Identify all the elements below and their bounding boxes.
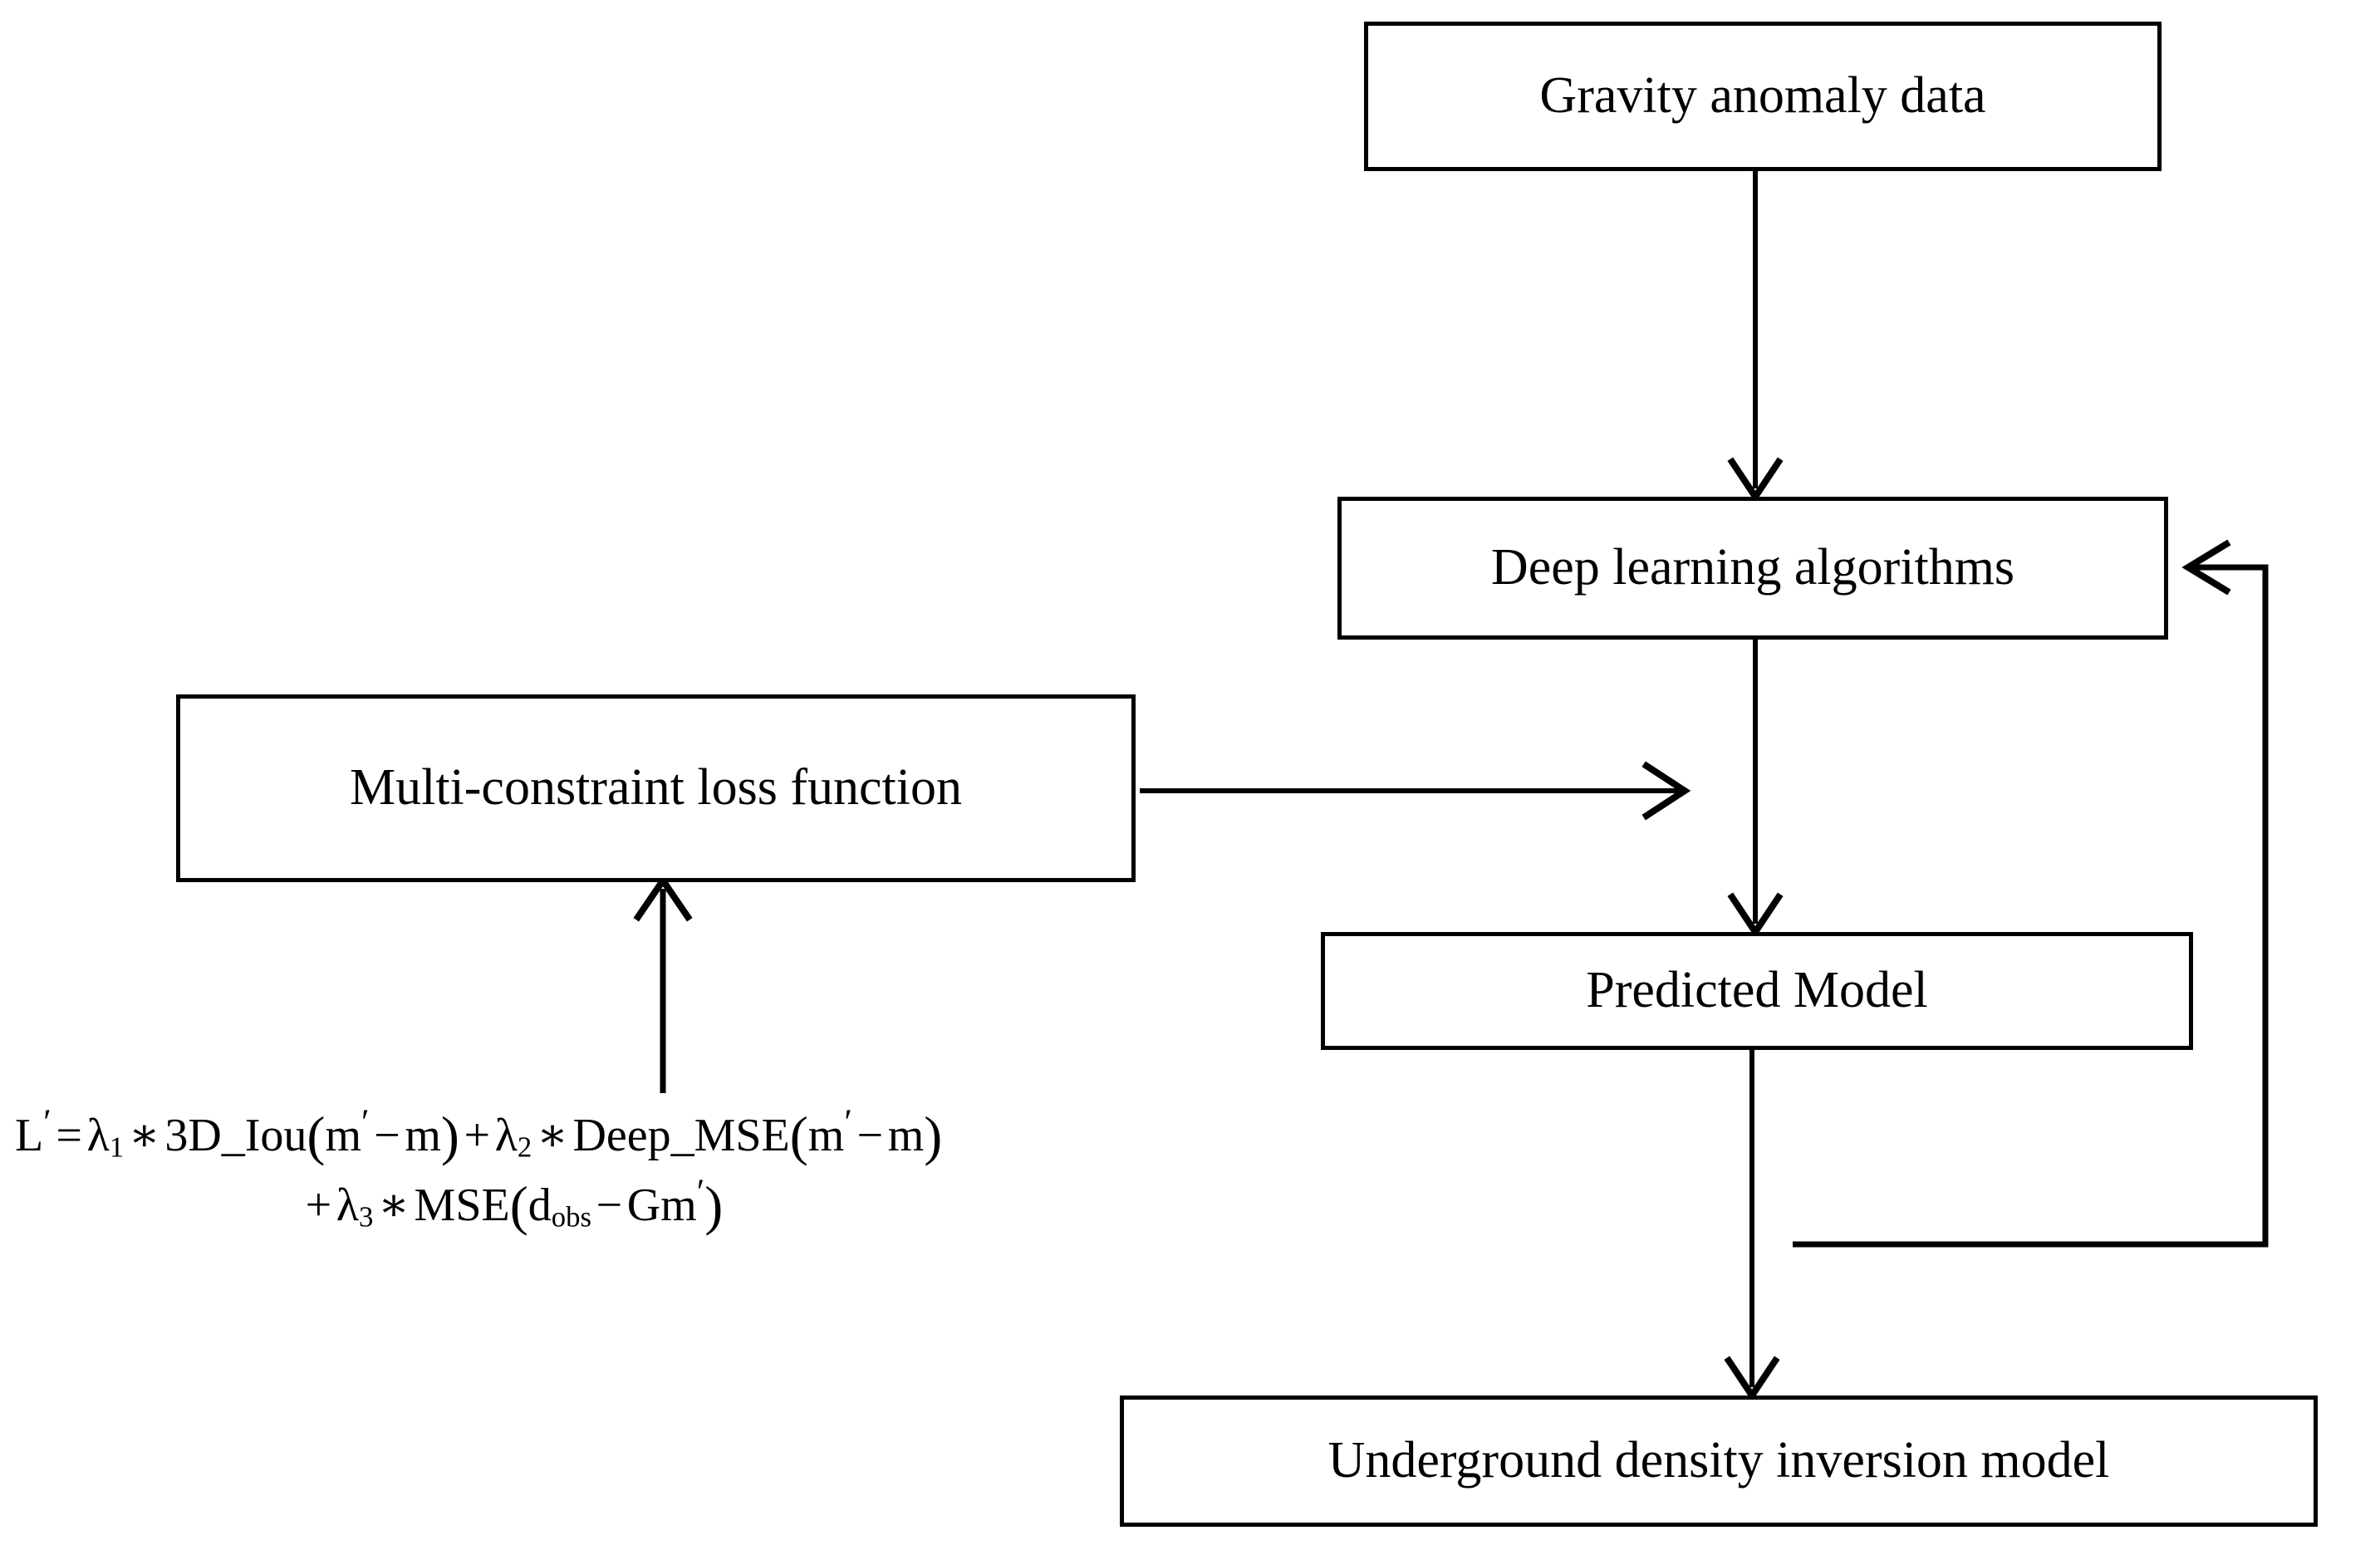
formula-lambda2-sub: 2 xyxy=(518,1131,532,1164)
formula-lambda3: λ xyxy=(336,1180,359,1231)
formula-mul-3: ∗ xyxy=(373,1180,414,1231)
formula-lambda1: λ xyxy=(87,1110,110,1161)
formula-term1-close-paren: ) xyxy=(441,1106,459,1167)
formula-term3-arg-b-prime: ′ xyxy=(697,1172,705,1212)
edge-feedback-loop xyxy=(1793,544,2265,1244)
formula-term1-arg-b: m xyxy=(405,1110,441,1161)
node-gravity-anomaly-data[interactable]: Gravity anomaly data xyxy=(1364,22,2162,171)
node-gravity-anomaly-data-label: Gravity anomaly data xyxy=(1539,69,1985,123)
formula-term3-close-paren: ) xyxy=(704,1176,723,1237)
formula-term3-open-paren: ( xyxy=(510,1176,528,1237)
node-multi-constraint-loss-function[interactable]: Multi-constraint loss function xyxy=(176,694,1136,882)
formula-term2-minus: − xyxy=(852,1110,888,1161)
diagram-canvas: Gravity anomaly data Deep learning algor… xyxy=(0,0,2380,1550)
node-deep-learning-algorithms[interactable]: Deep learning algorithms xyxy=(1337,497,2168,640)
formula-term2-name: Deep_MSE xyxy=(572,1110,789,1161)
loss-function-formula: L′=λ1∗3D_Iou(m′−m)+λ2∗Deep_MSE(m′−m) +λ3… xyxy=(8,1101,1354,1241)
formula-lambda3-sub: 3 xyxy=(359,1201,373,1234)
formula-mul-1: ∗ xyxy=(124,1110,164,1161)
formula-term2-close-paren: ) xyxy=(924,1106,942,1167)
node-predicted-model[interactable]: Predicted Model xyxy=(1321,932,2193,1050)
formula-term3-arg-a: d xyxy=(528,1180,552,1231)
formula-term1-name: 3D_Iou xyxy=(164,1110,307,1161)
formula-term3-arg-a-sub: obs xyxy=(552,1201,591,1234)
formula-term3-name: MSE xyxy=(415,1180,510,1231)
formula-lambda2: λ xyxy=(495,1110,518,1161)
node-multi-constraint-loss-function-label: Multi-constraint loss function xyxy=(350,761,962,815)
formula-lhs-prime: ′ xyxy=(43,1102,52,1142)
formula-term3-arg-b: Gm xyxy=(627,1180,697,1231)
edge-gravity-to-deep xyxy=(1732,171,1779,497)
formula-term2-arg-a: m xyxy=(808,1110,845,1161)
formula-line-2: +λ3∗MSE(dobs−Gm′) xyxy=(8,1170,1354,1240)
formula-term2-open-paren: ( xyxy=(790,1106,808,1167)
formula-term1-open-paren: ( xyxy=(307,1106,325,1167)
formula-term3-minus: − xyxy=(591,1180,627,1231)
edge-formula-to-loss xyxy=(638,880,688,1093)
node-underground-density-inversion-model[interactable]: Underground density inversion model xyxy=(1120,1395,2318,1527)
formula-plus-2: + xyxy=(301,1180,336,1231)
node-underground-density-inversion-model-label: Underground density inversion model xyxy=(1328,1434,2110,1488)
formula-term2-arg-b: m xyxy=(888,1110,925,1161)
formula-mul-2: ∗ xyxy=(532,1110,572,1161)
formula-term1-minus: − xyxy=(370,1110,405,1161)
formula-term2-arg-a-prime: ′ xyxy=(844,1102,852,1142)
formula-lambda1-sub: 1 xyxy=(110,1131,124,1164)
edge-predicted-to-underground xyxy=(1729,1050,1775,1395)
node-predicted-model-label: Predicted Model xyxy=(1586,964,1928,1018)
edge-deep-to-predicted xyxy=(1732,640,1779,932)
formula-equals: = xyxy=(52,1110,87,1161)
formula-term1-arg-a: m xyxy=(325,1110,361,1161)
formula-line-1: L′=λ1∗3D_Iou(m′−m)+λ2∗Deep_MSE(m′−m) xyxy=(8,1101,1354,1170)
edge-loss-to-deep xyxy=(1140,766,1685,816)
node-deep-learning-algorithms-label: Deep learning algorithms xyxy=(1491,541,2014,595)
formula-lhs: L xyxy=(15,1110,43,1161)
formula-term1-arg-a-prime: ′ xyxy=(361,1102,370,1142)
formula-plus-1: + xyxy=(459,1110,495,1161)
